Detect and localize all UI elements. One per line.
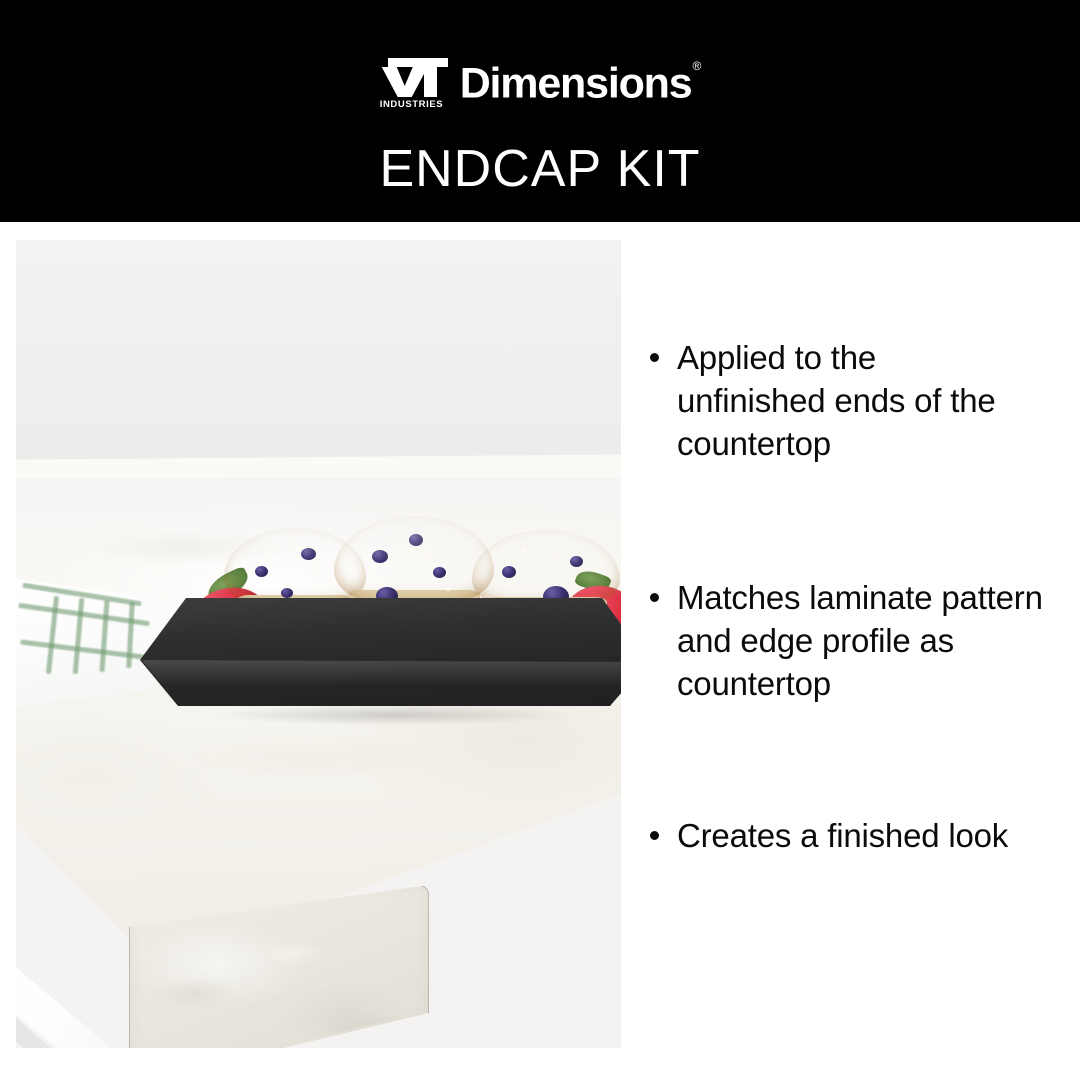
serving-plate (140, 598, 621, 716)
vt-industries-logo-icon: INDUSTRIES (380, 58, 452, 110)
bullet-dot-icon (650, 593, 659, 602)
blueberry (281, 588, 293, 598)
blueberry (570, 556, 583, 567)
feature-item: Applied to the unfinished ends of the co… (650, 336, 1010, 465)
muffin-top (334, 516, 494, 604)
brand-wordmark-text: Dimensions (460, 60, 692, 108)
feature-text: Matches laminate pattern and edge profil… (677, 576, 1070, 705)
vt-logo-bar (388, 58, 448, 67)
marketing-infographic-page: INDUSTRIES Dimensions® ENDCAP KIT (0, 0, 1080, 1080)
sugar-crystal (555, 556, 558, 559)
vt-logo-v-shape (382, 67, 428, 97)
logo-industries-label: INDUSTRIES (380, 99, 452, 110)
feature-item: Creates a finished look (650, 814, 1050, 857)
feature-text: Applied to the unfinished ends of the co… (677, 336, 1010, 465)
sugar-crystal (446, 587, 450, 591)
brand-logo: INDUSTRIES Dimensions® (0, 56, 1080, 112)
vt-logo-t-stem (424, 67, 437, 97)
blueberry (502, 566, 516, 578)
sugar-crystal (267, 551, 271, 555)
registered-trademark-icon: ® (692, 59, 701, 73)
sugar-crystal (392, 539, 396, 543)
feature-text: Creates a finished look (677, 814, 1050, 857)
bullet-dot-icon (650, 353, 659, 362)
brand-wordmark: Dimensions® (460, 55, 701, 106)
sugar-crystal (427, 550, 431, 554)
feature-item: Matches laminate pattern and edge profil… (650, 576, 1070, 705)
product-photo (16, 240, 621, 1048)
header-band: INDUSTRIES Dimensions® ENDCAP KIT (0, 0, 1080, 222)
bullet-dot-icon (650, 831, 659, 840)
page-title: ENDCAP KIT (0, 140, 1080, 198)
